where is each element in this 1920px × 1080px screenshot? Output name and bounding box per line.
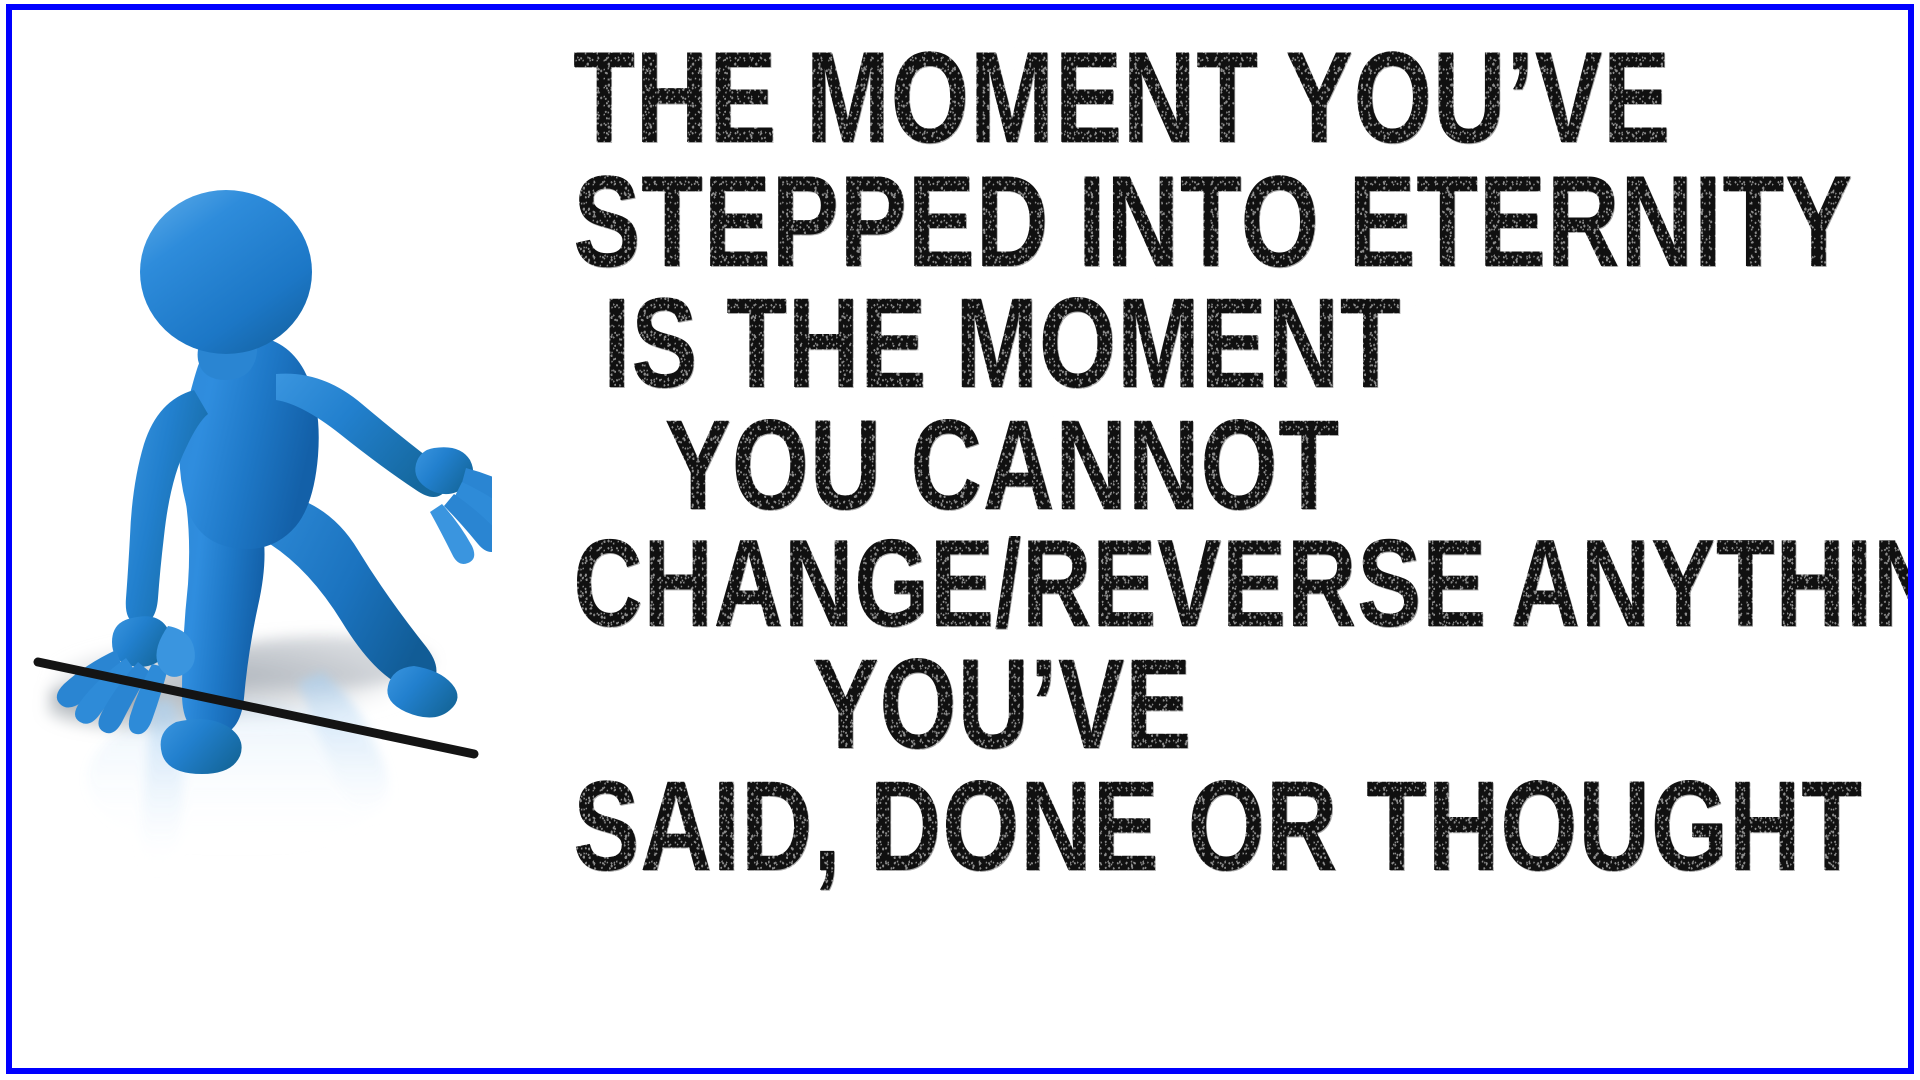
quote-line-7: SAID, DONE OR THOUGHT [573,766,1431,888]
quote-text-block: THE MOMENT YOU’VE STEPPED INTO ETERNITY … [452,36,1552,887]
quote-line-4: YOU CANNOT [573,405,1431,527]
quote-line-6-text: YOU’VE [812,644,1192,766]
quote-line-3-text: IS THE MOMENT [603,283,1401,405]
poster-stage: THE MOMENT YOU’VE STEPPED INTO ETERNITY … [12,10,1908,1070]
blue-3d-figure-illustration [22,180,492,900]
quote-line-5: CHANGE/REVERSE ANYTHING [573,526,1431,644]
quote-line-6: YOU’VE [573,644,1431,766]
quote-line-2: STEPPED INTO ETERNITY [573,160,1431,284]
quote-line-1-text: THE MOMENT YOU’VE [573,36,1671,160]
poster-canvas: THE MOMENT YOU’VE STEPPED INTO ETERNITY … [0,0,1920,1080]
quote-line-7-text: SAID, DONE OR THOUGHT [573,766,1862,888]
quote-line-1: THE MOMENT YOU’VE [573,36,1431,160]
quote-line-3: IS THE MOMENT [573,283,1431,405]
quote-line-5-text: CHANGE/REVERSE ANYTHING [573,526,1908,644]
quote-line-4-text: YOU CANNOT [664,405,1339,527]
quote-line-2-text: STEPPED INTO ETERNITY [573,160,1853,284]
head [140,190,312,354]
right-foot [387,666,457,718]
